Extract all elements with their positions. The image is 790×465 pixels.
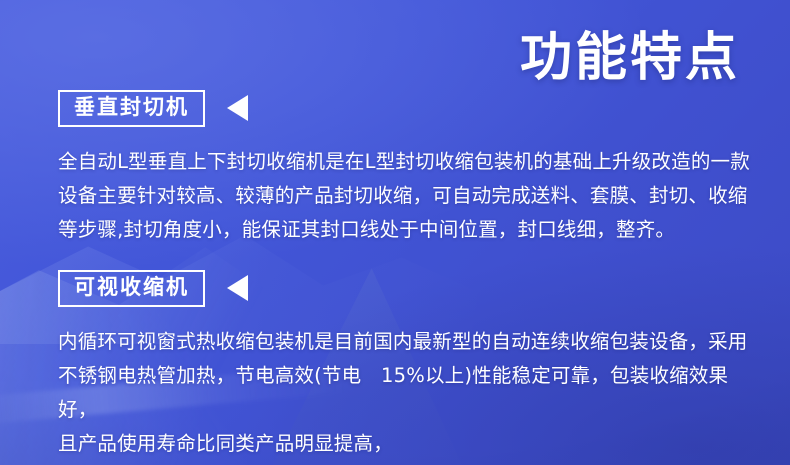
paragraph-line: 全自动L型垂直上下封切收缩机是在L型封切收缩包装机的基础上升级改造的一款 [58, 145, 762, 179]
page-title: 功能特点 [520, 30, 740, 87]
triangle-left-icon [227, 275, 248, 301]
section-paragraph: 内循环可视窗式热收缩包装机是目前国内最新型的自动连续收缩包装设备，采用 不锈钢电… [58, 325, 762, 461]
section-vertical-sealer: 垂直封切机 全自动L型垂直上下封切收缩机是在L型封切收缩包装机的基础上升级改造的… [58, 88, 762, 247]
section-paragraph: 全自动L型垂直上下封切收缩机是在L型封切收缩包装机的基础上升级改造的一款 设备主… [58, 145, 762, 247]
triangle-left-icon [227, 95, 248, 121]
section-heading-label: 垂直封切机 [58, 90, 205, 127]
section-visual-shrink-machine: 可视收缩机 内循环可视窗式热收缩包装机是目前国内最新型的自动连续收缩包装设备，采… [58, 268, 762, 461]
feature-poster: 功能特点 垂直封切机 全自动L型垂直上下封切收缩机是在L型封切收缩包装机的基础上… [0, 0, 790, 465]
section-header: 可视收缩机 [58, 268, 762, 308]
paragraph-line: 不锈钢电热管加热，节电高效(节电 15%以上)性能稳定可靠，包装收缩效果好， [58, 359, 762, 427]
paragraph-line: 设备主要针对较高、较薄的产品封切收缩，可自动完成送料、套膜、封切、收缩 [58, 179, 762, 213]
section-header: 垂直封切机 [58, 88, 762, 128]
paragraph-line: 内循环可视窗式热收缩包装机是目前国内最新型的自动连续收缩包装设备，采用 [58, 325, 762, 359]
section-heading-label: 可视收缩机 [58, 270, 205, 307]
paragraph-line: 且产品使用寿命比同类产品明显提高， [58, 427, 762, 461]
paragraph-line: 等步骤,封切角度小，能保证其封口线处于中间位置，封口线细，整齐。 [58, 213, 762, 247]
poster-content: 功能特点 垂直封切机 全自动L型垂直上下封切收缩机是在L型封切收缩包装机的基础上… [0, 0, 790, 465]
